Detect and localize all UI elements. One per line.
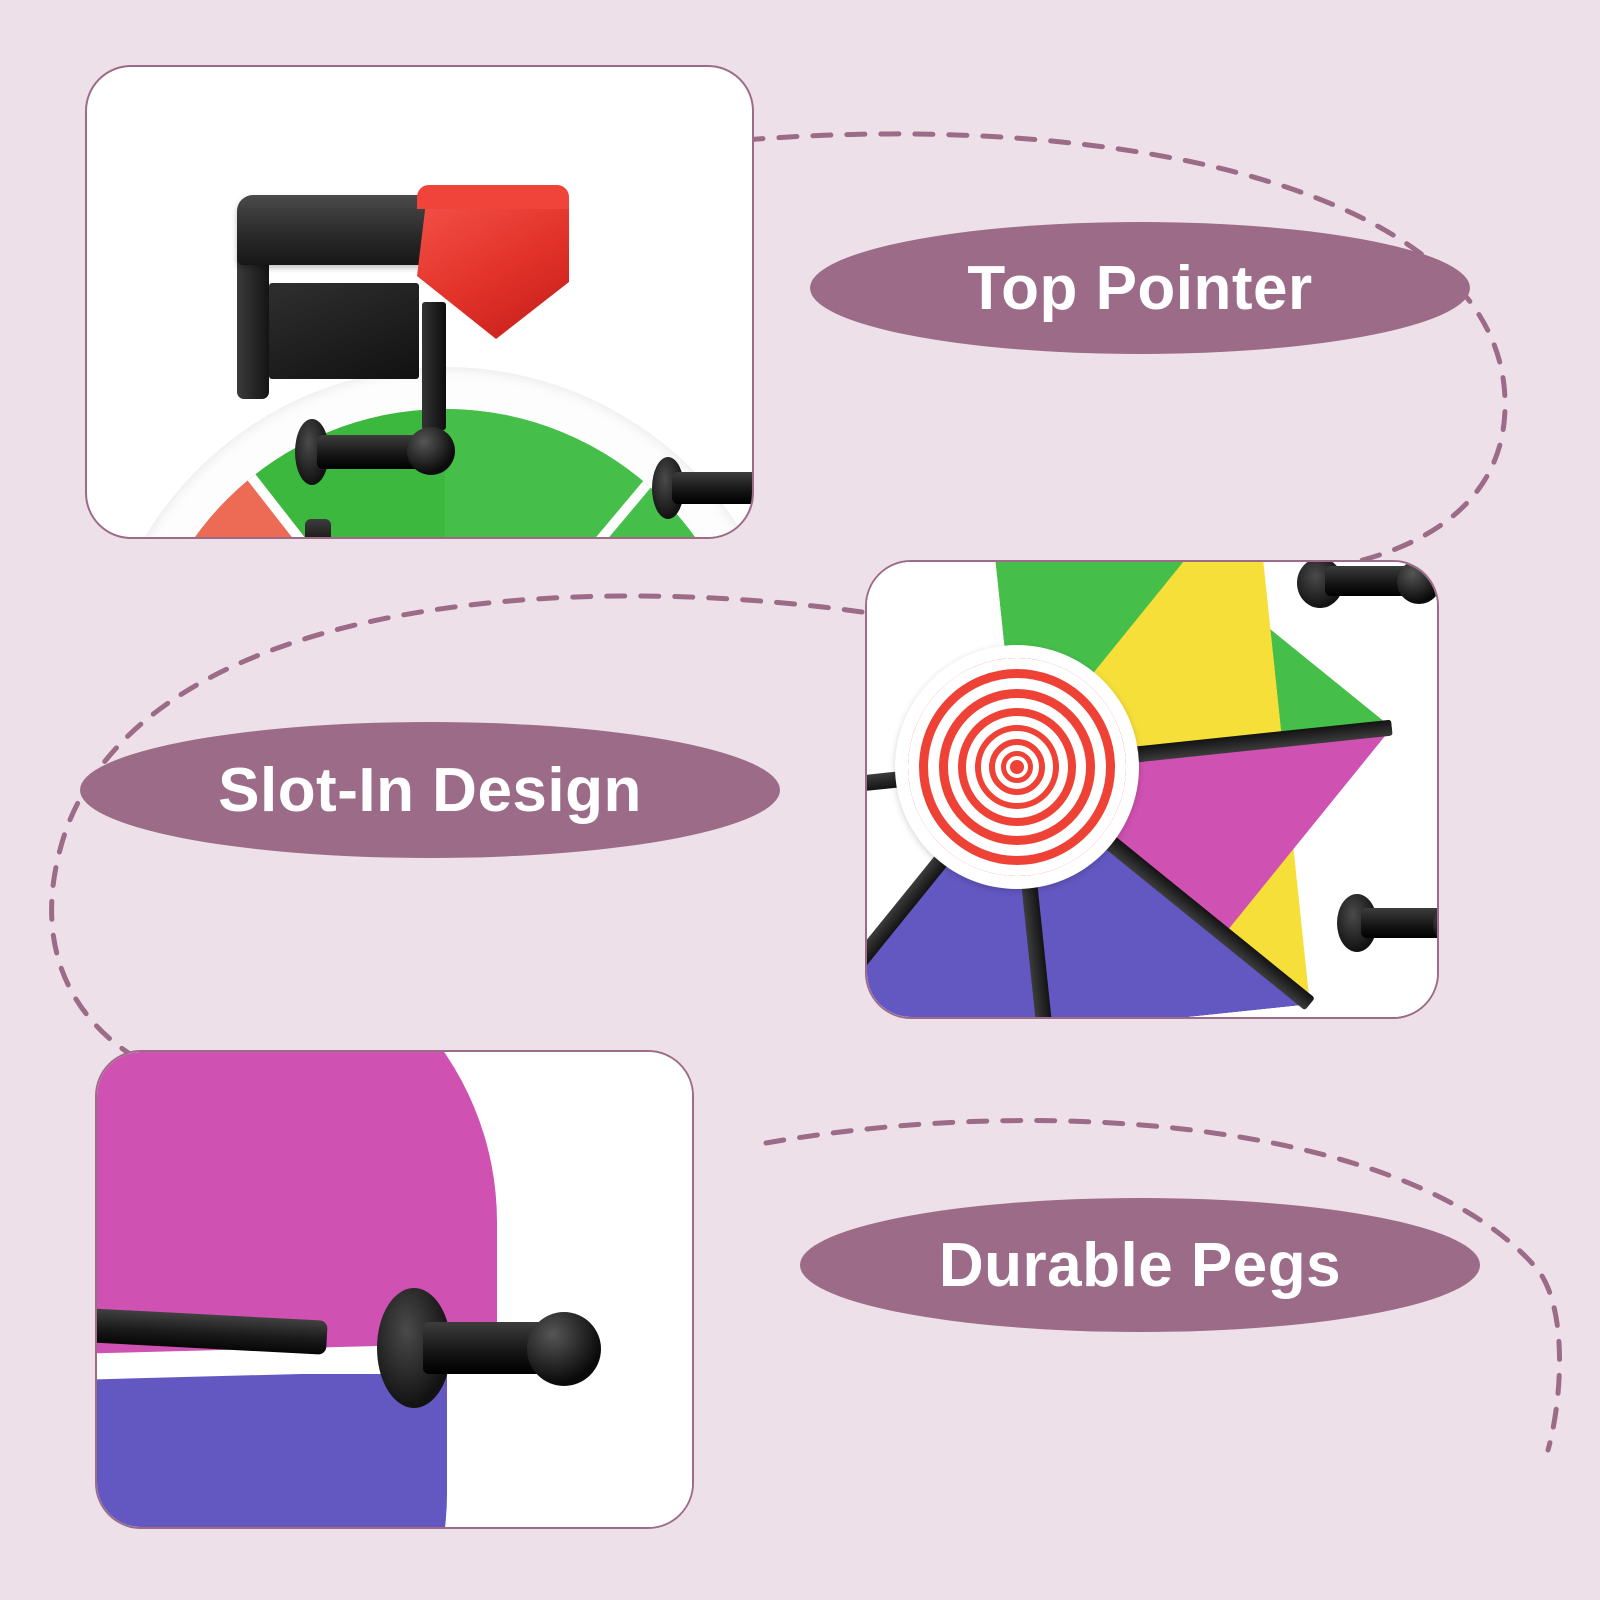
peg-shaft xyxy=(317,435,421,469)
connector-panel1-to-panel2 xyxy=(745,134,1505,576)
photo-durable-pegs xyxy=(97,1052,692,1527)
feature-label-top-pointer: Top Pointer xyxy=(810,222,1470,354)
spiral-hub-icon xyxy=(908,658,1126,876)
pointer-stem xyxy=(422,302,446,430)
peg-shaft xyxy=(672,472,754,504)
wheel-rim xyxy=(865,560,1412,1019)
red-arrow-pointer-top xyxy=(417,185,569,209)
feature-photo-durable-pegs[interactable] xyxy=(95,1050,694,1529)
feature-label-durable-pegs: Durable Pegs xyxy=(800,1198,1480,1332)
feature-photo-slot-in-design[interactable] xyxy=(865,560,1439,1019)
peg-ball-tip xyxy=(407,427,455,475)
feature-photo-top-pointer[interactable] xyxy=(85,65,754,539)
infographic-canvas: Top Pointer Slot-In Design Durable Pegs xyxy=(0,0,1600,1600)
peg-shaft xyxy=(1361,908,1439,938)
feature-label-text: Slot-In Design xyxy=(218,755,642,826)
peg-ball-tip xyxy=(1397,560,1439,604)
pointer-bracket-leg xyxy=(237,247,269,399)
peg-ball-tip xyxy=(527,1312,601,1386)
wheel-face xyxy=(865,560,1394,1019)
feature-label-text: Durable Pegs xyxy=(939,1230,1341,1301)
photo-slot-in-design xyxy=(867,562,1437,1017)
feature-label-slot-in-design: Slot-In Design xyxy=(80,722,780,858)
pointer-bracket-slot xyxy=(269,283,419,379)
peg-shaft xyxy=(305,519,331,539)
photo-top-pointer xyxy=(87,67,752,537)
feature-label-text: Top Pointer xyxy=(967,253,1312,324)
